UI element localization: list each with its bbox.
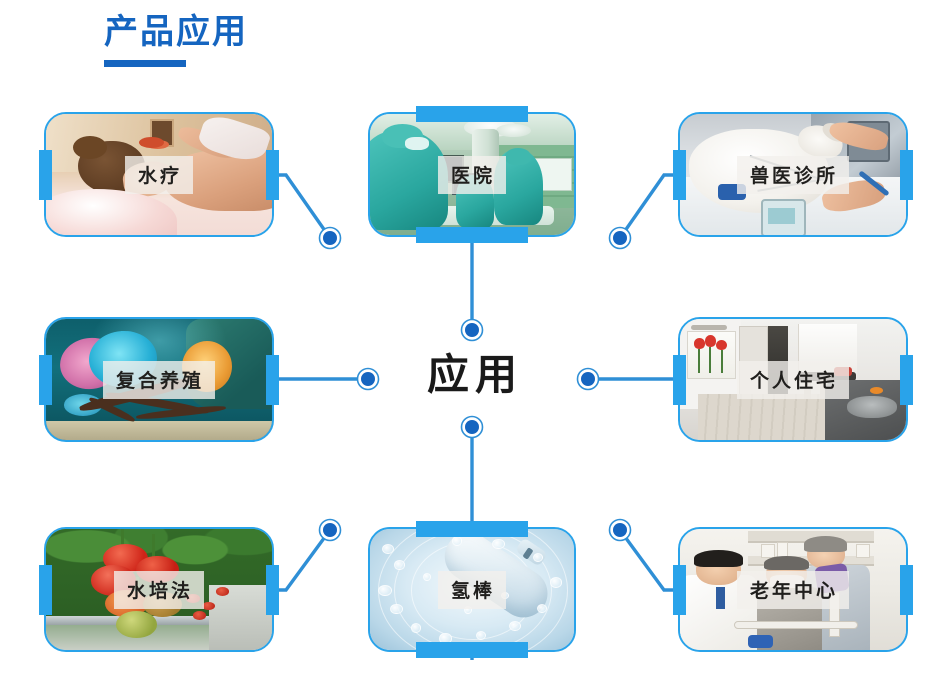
hub-label: 应用 (395, 352, 555, 398)
card-spa-label: 水疗 (125, 156, 193, 194)
card-hydroponics-tab-right (266, 565, 279, 615)
card-residence-tab-left (673, 355, 686, 405)
card-hydroponics-label: 水培法 (114, 571, 204, 609)
card-hospital-tab-top (416, 106, 528, 122)
card-spa-tab-left (39, 150, 52, 200)
card-aquaculture-tab-right (266, 355, 279, 405)
card-vet-clinic[interactable]: 兽医诊所 (678, 112, 908, 237)
card-vet-clinic-tab-right (900, 150, 913, 200)
card-hospital-tab-bottom (416, 227, 528, 243)
card-hospital[interactable]: 医院 (368, 112, 576, 237)
card-senior-center-tab-left (673, 565, 686, 615)
card-senior-center-label: 老年中心 (737, 571, 849, 609)
card-vet-clinic-tab-left (673, 150, 686, 200)
card-spa[interactable]: 水疗 (44, 112, 274, 237)
dot-vet-clinic (610, 228, 631, 249)
card-senior-center-tab-right (900, 565, 913, 615)
dot-aquaculture (358, 369, 379, 390)
dot-residence (578, 369, 599, 390)
card-aquaculture-tab-left (39, 355, 52, 405)
application-diagram: 产品应用 (0, 0, 950, 676)
dot-hydroponics (320, 520, 341, 541)
card-hydrogen-rod-tab-bottom (416, 642, 528, 658)
card-senior-center[interactable]: 老年中心 (678, 527, 908, 652)
dot-hydrogen-rod (462, 417, 483, 438)
card-aquaculture-label: 复合养殖 (103, 361, 215, 399)
card-residence[interactable]: 个人住宅 (678, 317, 908, 442)
card-hydrogen-rod-label: 氢棒 (438, 571, 506, 609)
card-hydrogen-rod-tab-top (416, 521, 528, 537)
card-residence-label: 个人住宅 (737, 361, 849, 399)
card-vet-clinic-label: 兽医诊所 (737, 156, 849, 194)
dot-senior-center (610, 520, 631, 541)
card-hydroponics-tab-left (39, 565, 52, 615)
card-aquaculture[interactable]: 复合养殖 (44, 317, 274, 442)
card-residence-tab-right (900, 355, 913, 405)
dot-spa (320, 228, 341, 249)
card-hydroponics[interactable]: 水培法 (44, 527, 274, 652)
card-spa-tab-right (266, 150, 279, 200)
card-hydrogen-rod[interactable]: 氢棒 (368, 527, 576, 652)
dot-hospital (462, 320, 483, 341)
card-hospital-label: 医院 (438, 156, 506, 194)
